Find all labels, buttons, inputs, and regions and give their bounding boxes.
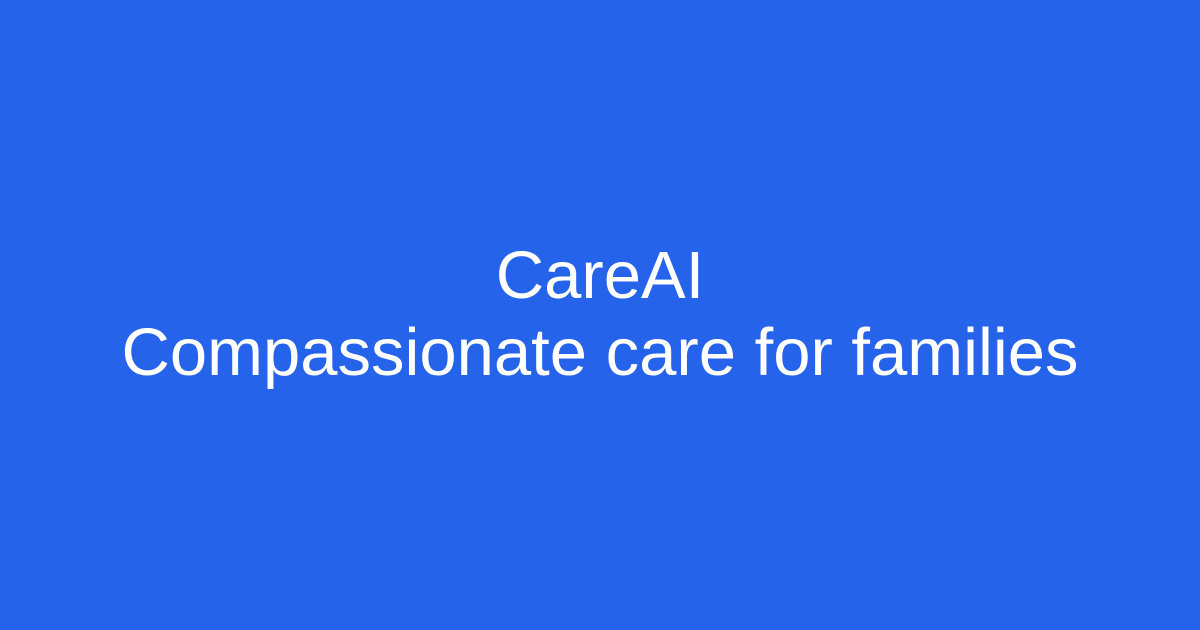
social-share-card: CareAI Compassionate care for families	[0, 0, 1200, 630]
brand-name: CareAI	[0, 237, 1200, 314]
brand-tagline: Compassionate care for families	[0, 314, 1200, 391]
card-text-block: CareAI Compassionate care for families	[0, 237, 1200, 391]
